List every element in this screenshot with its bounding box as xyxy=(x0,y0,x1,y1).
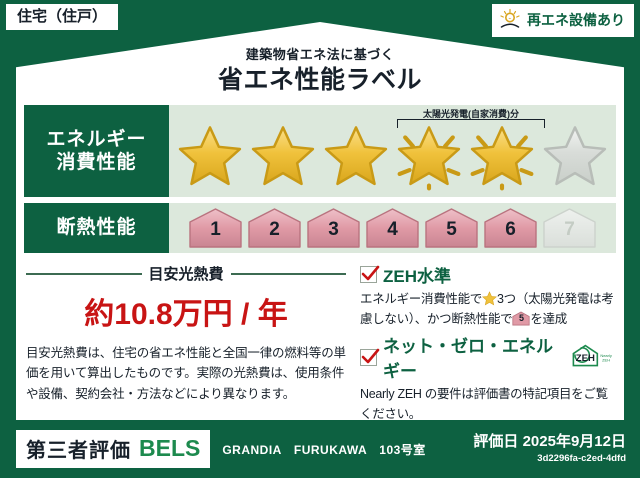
insulation-level-number: 1 xyxy=(188,220,243,239)
net-zero-energy-body: Nearly ZEH の要件は評価書の特記項目をご覧ください。 xyxy=(360,384,616,424)
star-3 xyxy=(320,123,392,195)
zeh-standard-item: ZEH水準 xyxy=(360,262,616,287)
heading-rule-right xyxy=(231,273,347,275)
sun-renewable-icon: ⌁ xyxy=(498,8,522,32)
zeh-standard-body-part1: エネルギー消費性能で xyxy=(360,292,482,306)
insulation-performance-body: 1234567 xyxy=(169,203,616,253)
building-type-label: 住宅（住戸） xyxy=(17,8,107,25)
energy-performance-row: エネルギー 消費性能 太陽光発電(自家消費)分 xyxy=(24,105,616,197)
zeh-standard-body-part2: を達成 xyxy=(530,312,567,326)
renewable-energy-badge: ⌁ 再エネ設備あり xyxy=(492,4,634,37)
inline-insulation-level-icon: 5 xyxy=(512,311,530,326)
energy-performance-body: 太陽光発電(自家消費)分 xyxy=(169,105,616,197)
insulation-level-scale: 1234567 xyxy=(169,203,616,253)
insulation-level-number: 3 xyxy=(306,220,361,239)
star-2 xyxy=(247,123,319,195)
insulation-level-number: 6 xyxy=(483,220,538,239)
utility-cost-value: 約10.8万円 / 年 xyxy=(26,289,346,333)
svg-text:⌁: ⌁ xyxy=(508,16,511,22)
insulation-level-5: 5 xyxy=(424,207,479,249)
insulation-label-text: 断熱性能 xyxy=(56,216,136,239)
insulation-level-6: 6 xyxy=(483,207,538,249)
utility-cost-description: 目安光熱費は、住宅の省エネ性能と全国一律の燃料等の単価を用いて算出したものです。… xyxy=(26,343,346,404)
zeh-logo-icon: ZEH Nearly ZEH xyxy=(571,344,616,371)
bels-jp-label: 第三者評価 xyxy=(26,434,131,463)
evaluation-id: 3d2296fa-c2ed-4dfd xyxy=(473,453,626,464)
star-1 xyxy=(174,123,246,195)
insulation-level-number: 7 xyxy=(542,220,597,239)
utility-cost-column: 目安光熱費 約10.8万円 / 年 目安光熱費は、住宅の省エネ性能と全国一律の燃… xyxy=(24,259,354,424)
renewable-energy-label: 再エネ設備あり xyxy=(527,13,625,27)
svg-text:ZEH: ZEH xyxy=(602,357,610,362)
insulation-level-number: 4 xyxy=(365,220,420,239)
insulation-level-7: 7 xyxy=(542,207,597,249)
zeh-standard-checkbox[interactable] xyxy=(360,266,377,283)
insulation-level-number: 2 xyxy=(247,220,302,239)
zeh-column: ZEH水準 エネルギー消費性能で3つ（太陽光発電は考慮しない）、かつ断熱性能で5… xyxy=(354,259,616,424)
header-roof: 住宅（住戸） ⌁ 再エネ設備あり 建築物省エネ法に基づく 省エネ性能ラベル xyxy=(0,0,640,100)
utility-cost-heading-text: 目安光熱費 xyxy=(149,263,224,284)
energy-label-line2: 消費性能 xyxy=(56,151,136,174)
heading-rule-left xyxy=(26,273,142,275)
evaluation-date: 評価日 2025年9月12日 xyxy=(473,430,626,451)
footer: 第三者評価 BELS GRANDIA FURUKAWA 103号室 評価日 20… xyxy=(0,420,640,478)
label-title: 省エネ性能ラベル xyxy=(0,60,640,96)
insulation-level-4: 4 xyxy=(365,207,420,249)
inline-star-icon xyxy=(482,291,497,306)
insulation-performance-label: 断熱性能 xyxy=(24,203,169,253)
zeh-standard-title: ZEH水準 xyxy=(383,262,451,287)
net-zero-energy-title: ネット・ゼロ・エネルギー xyxy=(383,332,565,382)
svg-text:ZEH: ZEH xyxy=(576,352,595,363)
star-4 xyxy=(393,123,465,195)
inline-insulation-level-number: 5 xyxy=(512,314,530,323)
bels-badge: 第三者評価 BELS xyxy=(16,430,210,468)
utility-cost-heading: 目安光熱費 xyxy=(26,263,346,284)
zeh-standard-body: エネルギー消費性能で3つ（太陽光発電は考慮しない）、かつ断熱性能で5を達成 xyxy=(360,289,616,329)
energy-performance-label: エネルギー 消費性能 xyxy=(24,105,169,197)
evaluation-date-block: 評価日 2025年9月12日 3d2296fa-c2ed-4dfd xyxy=(473,430,626,464)
building-type-badge: 住宅（住戸） xyxy=(6,4,118,30)
insulation-level-2: 2 xyxy=(247,207,302,249)
insulation-level-number: 5 xyxy=(424,220,479,239)
label-card: エネルギー 消費性能 太陽光発電(自家消費)分 断熱性能 1234567 目安光… xyxy=(16,98,624,420)
insulation-performance-row: 断熱性能 1234567 xyxy=(24,203,616,253)
star-5 xyxy=(466,123,538,195)
project-name: GRANDIA FURUKAWA 103号室 xyxy=(222,441,425,458)
insulation-level-3: 3 xyxy=(306,207,361,249)
lower-section: 目安光熱費 約10.8万円 / 年 目安光熱費は、住宅の省エネ性能と全国一律の燃… xyxy=(24,259,616,424)
bels-en-label: BELS xyxy=(139,435,200,462)
net-zero-energy-item: ネット・ゼロ・エネルギー ZEH Nearly ZEH xyxy=(360,332,616,382)
net-zero-energy-checkbox[interactable] xyxy=(360,349,377,366)
star-rating xyxy=(169,121,616,197)
energy-label-line1: エネルギー xyxy=(46,128,146,151)
star-6 xyxy=(539,123,611,195)
insulation-level-1: 1 xyxy=(188,207,243,249)
